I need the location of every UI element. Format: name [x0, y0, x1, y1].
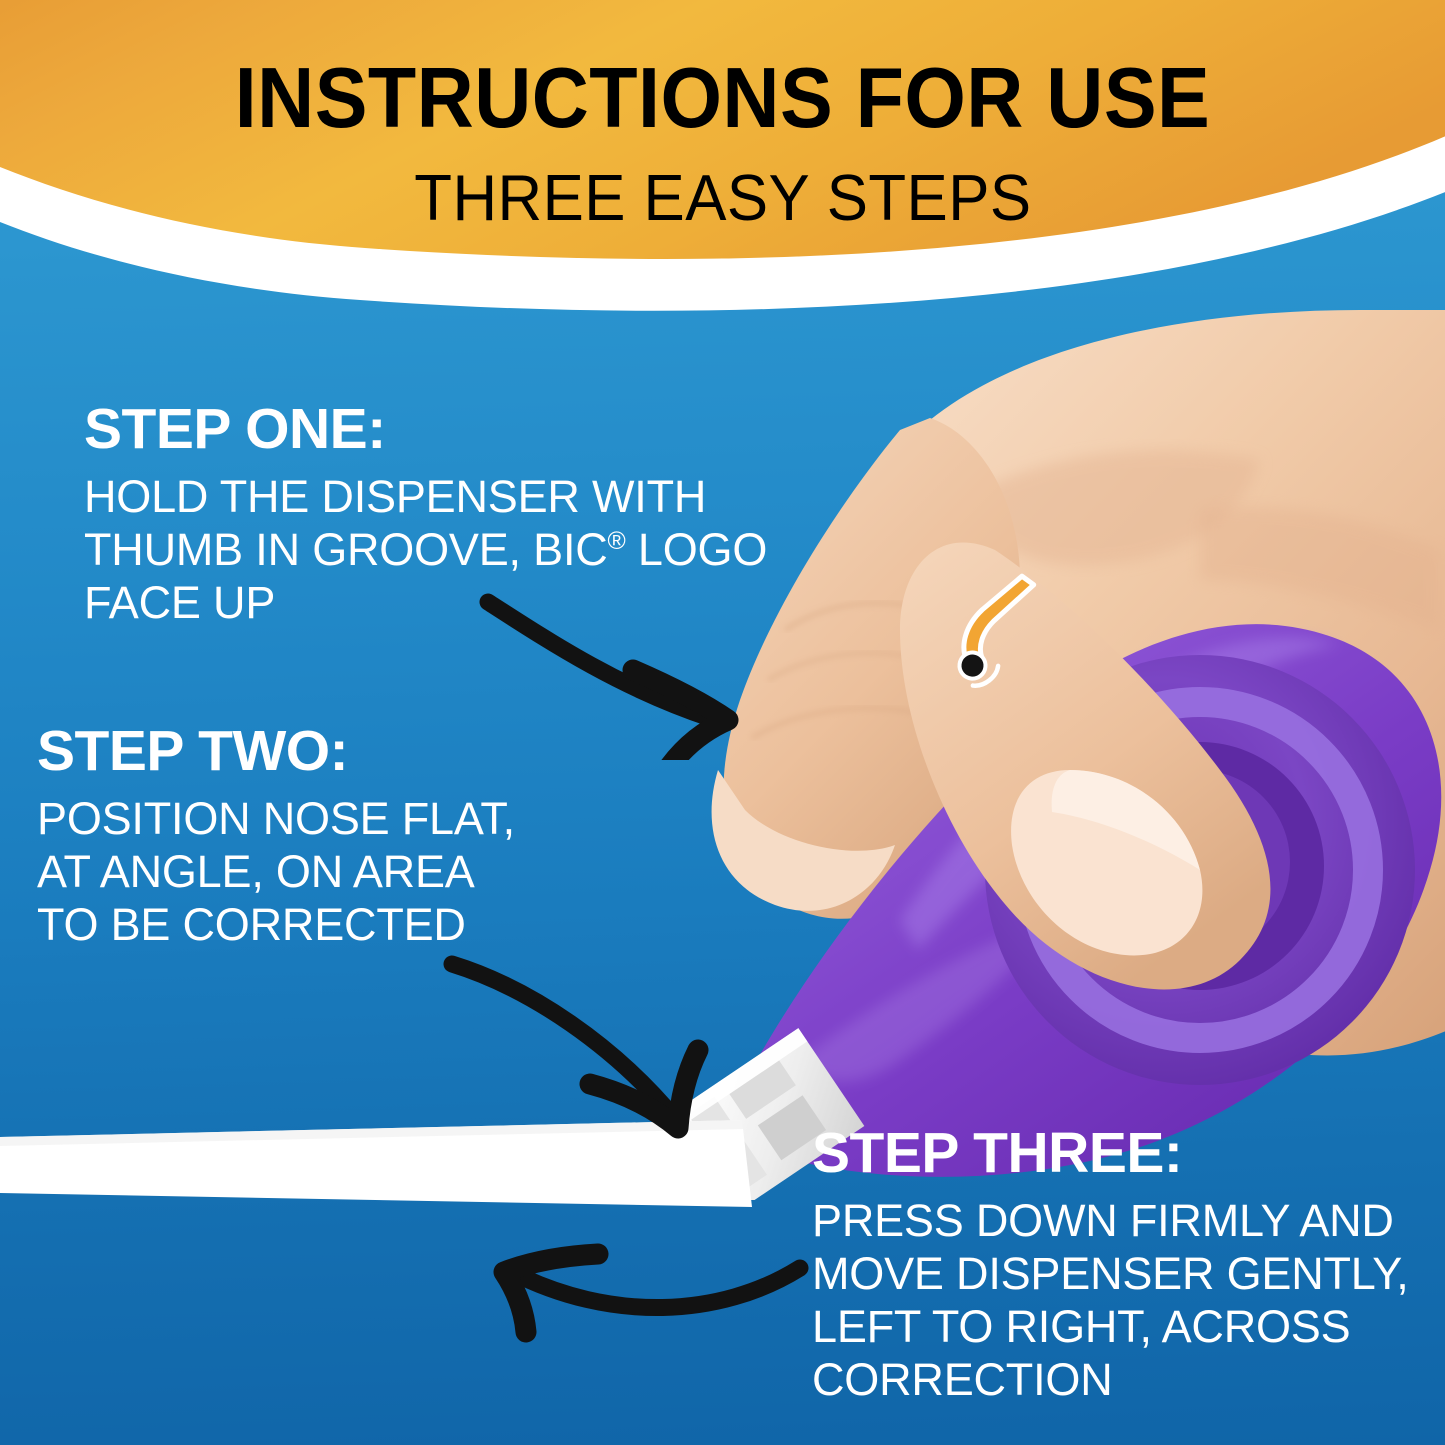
header-banner-shape	[0, 0, 1445, 330]
step-three-heading: STEP THREE:	[812, 1124, 1409, 1182]
step-three-line-3: LEFT TO RIGHT, ACROSS	[812, 1300, 1409, 1353]
step-two-body: POSITION NOSE FLAT, AT ANGLE, ON AREA TO…	[37, 792, 515, 951]
step-two-line-2: AT ANGLE, ON AREA	[37, 845, 515, 898]
step-two-line-1: POSITION NOSE FLAT,	[37, 792, 515, 845]
step-one-body: HOLD THE DISPENSER WITH THUMB IN GROOVE,…	[84, 470, 767, 629]
step-three-block: STEP THREE: PRESS DOWN FIRMLY AND MOVE D…	[812, 1124, 1409, 1407]
step-one-line-1: HOLD THE DISPENSER WITH	[84, 470, 767, 523]
arrow-step-three	[470, 1210, 820, 1370]
step-three-line-1: PRESS DOWN FIRMLY AND	[812, 1194, 1409, 1247]
step-one-line-3: FACE UP	[84, 576, 767, 629]
step-two-block: STEP TWO: POSITION NOSE FLAT, AT ANGLE, …	[37, 722, 515, 951]
arrow-step-two	[440, 950, 770, 1150]
step-one-heading: STEP ONE:	[84, 400, 767, 458]
step-three-body: PRESS DOWN FIRMLY AND MOVE DISPENSER GEN…	[812, 1194, 1409, 1406]
step-one-block: STEP ONE: HOLD THE DISPENSER WITH THUMB …	[84, 400, 767, 629]
step-one-line-2: THUMB IN GROOVE, BIC® LOGO	[84, 523, 767, 576]
step-two-line-3: TO BE CORRECTED	[37, 898, 515, 951]
step-two-heading: STEP TWO:	[37, 722, 515, 780]
registered-mark: ®	[608, 528, 626, 555]
step-three-line-4: CORRECTION	[812, 1353, 1409, 1406]
step-three-line-2: MOVE DISPENSER GENTLY,	[812, 1247, 1409, 1300]
infographic-canvas: INSTRUCTIONS FOR USE THREE EASY STEPS	[0, 0, 1445, 1445]
